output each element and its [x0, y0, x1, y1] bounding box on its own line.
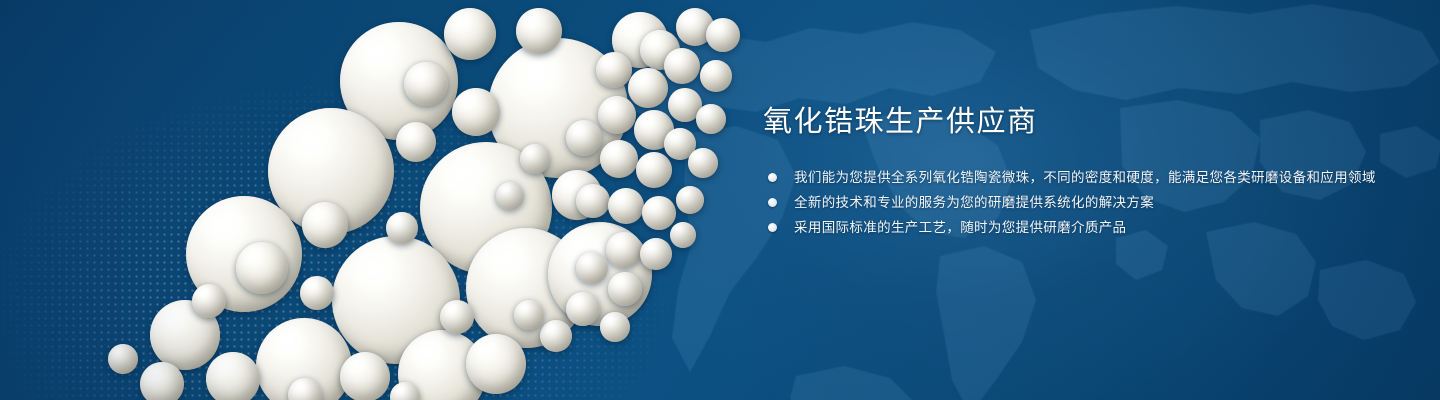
banner-content: 氧化锆珠生产供应商 我们能为您提供全系列氧化锆陶瓷微珠，不同的密度和硬度，能满足… — [763, 104, 1383, 241]
list-item-text: 我们能为您提供全系列氧化锆陶瓷微珠，不同的密度和硬度，能满足您各类研磨设备和应用… — [794, 170, 1376, 185]
hero-banner: 氧化锆珠生产供应商 我们能为您提供全系列氧化锆陶瓷微珠，不同的密度和硬度，能满足… — [0, 0, 1440, 400]
banner-feature-list: 我们能为您提供全系列氧化锆陶瓷微珠，不同的密度和硬度，能满足您各类研磨设备和应用… — [763, 166, 1383, 239]
bullet-dot-icon — [768, 173, 777, 182]
banner-headline: 氧化锆珠生产供应商 — [763, 104, 1383, 140]
list-item-text: 全新的技术和专业的服务为您的研磨提供系统化的解决方案 — [794, 195, 1154, 210]
list-item-text: 采用国际标准的生产工艺，随时为您提供研磨介质产品 — [794, 220, 1126, 235]
bullet-dot-icon — [768, 198, 777, 207]
list-item: 采用国际标准的生产工艺，随时为您提供研磨介质产品 — [763, 216, 1383, 239]
bullet-dot-icon — [768, 223, 777, 232]
list-item: 我们能为您提供全系列氧化锆陶瓷微珠，不同的密度和硬度，能满足您各类研磨设备和应用… — [763, 166, 1383, 189]
list-item: 全新的技术和专业的服务为您的研磨提供系统化的解决方案 — [763, 191, 1383, 214]
